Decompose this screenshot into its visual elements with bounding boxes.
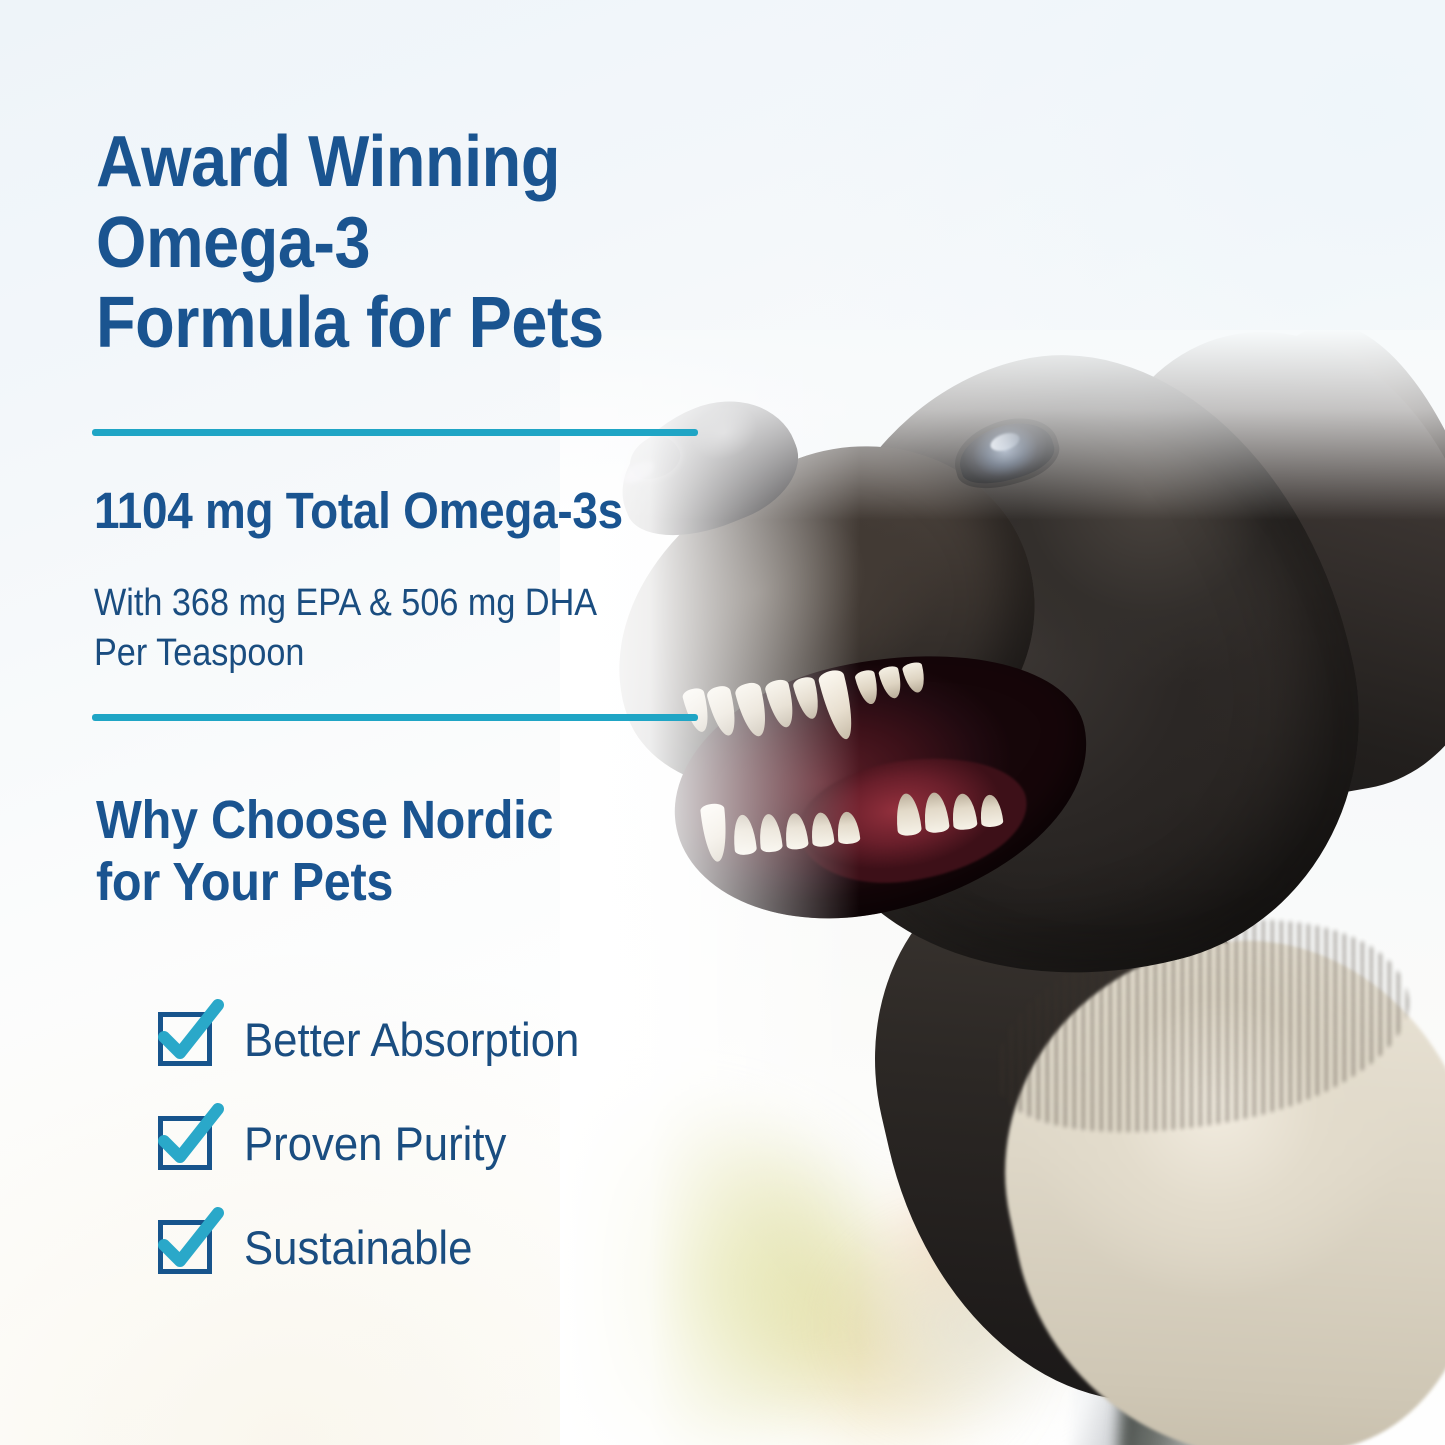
checkbox-checked xyxy=(158,1116,212,1170)
page-title: Award Winning Omega-3 Formula for Pets xyxy=(96,122,672,364)
product-feature-image: Award Winning Omega-3 Formula for Pets 1… xyxy=(0,0,1445,1445)
list-item-label: Sustainable xyxy=(244,1224,472,1271)
list-item: Proven Purity xyxy=(158,1104,718,1182)
omega3-breakdown-text: With 368 mg EPA & 506 mg DHA Per Teaspoo… xyxy=(94,578,688,678)
list-item-label: Proven Purity xyxy=(244,1120,506,1167)
checkmark-icon xyxy=(150,995,230,1075)
list-item: Sustainable xyxy=(158,1208,718,1286)
copy-column: Award Winning Omega-3 Formula for Pets 1… xyxy=(0,0,760,1445)
benefits-checklist: Better Absorption Proven Purity Sustaina… xyxy=(158,1000,718,1312)
checkbox-checked xyxy=(158,1012,212,1066)
list-item-label: Better Absorption xyxy=(244,1016,579,1063)
checkmark-icon xyxy=(150,1099,230,1179)
list-item: Better Absorption xyxy=(158,1000,718,1078)
divider-bottom xyxy=(92,714,698,721)
section-heading: Why Choose Nordic for Your Pets xyxy=(96,790,672,913)
checkmark-icon xyxy=(150,1203,230,1283)
divider-top xyxy=(92,429,698,436)
omega3-total-heading: 1104 mg Total Omega-3s xyxy=(94,484,623,538)
checkbox-checked xyxy=(158,1220,212,1274)
